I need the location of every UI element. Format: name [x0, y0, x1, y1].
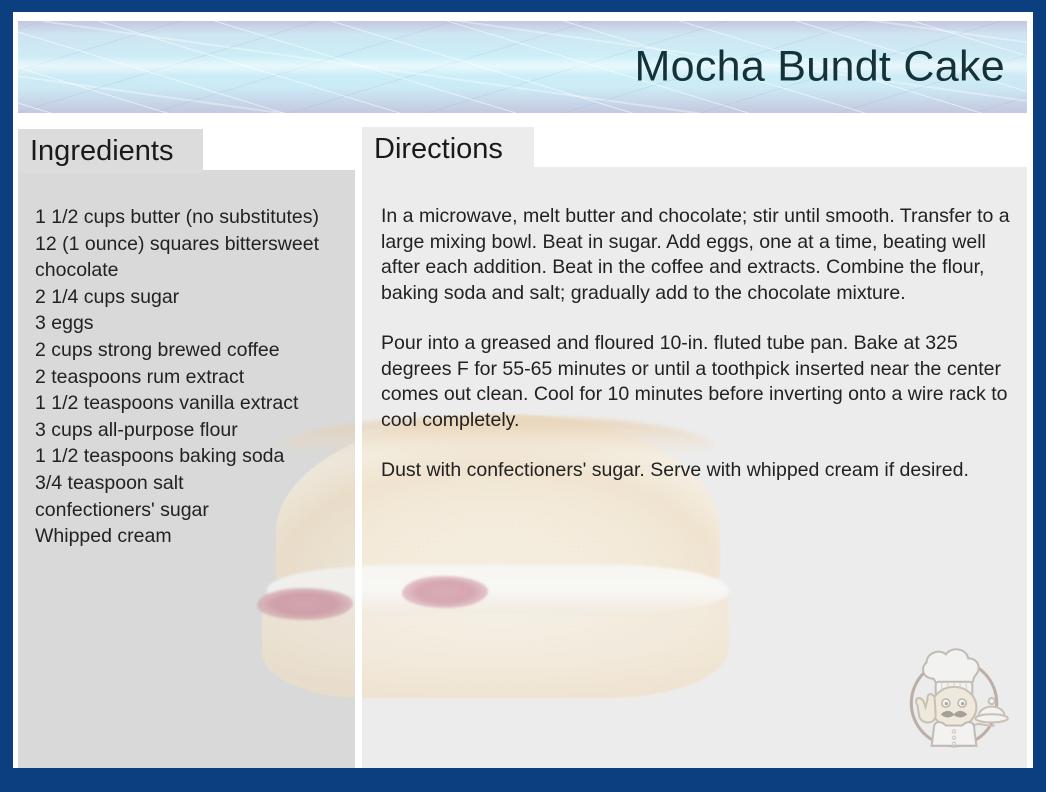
- list-item: confectioners' sugar: [35, 497, 360, 524]
- directions-paragraph: Dust with confectioners' sugar. Serve wi…: [381, 458, 1026, 484]
- list-item: 12 (1 ounce) squares bittersweet chocola…: [35, 231, 360, 284]
- page-title: Mocha Bundt Cake: [634, 46, 1005, 89]
- tab-directions[interactable]: Directions: [362, 127, 534, 172]
- recipe-card-page: Mocha Bundt Cake Ingredients Direct: [0, 0, 1046, 792]
- list-item: 3 eggs: [35, 310, 360, 337]
- directions-paragraph: Pour into a greased and floured 10-in. f…: [381, 331, 1026, 433]
- tab-ingredients[interactable]: Ingredients: [18, 129, 203, 173]
- list-item: 2 teaspoons rum extract: [35, 364, 360, 391]
- list-item: Whipped cream: [35, 523, 360, 550]
- panel-gutter-top-left: [203, 129, 362, 170]
- ingredients-list: 1 1/2 cups butter (no substitutes) 12 (1…: [35, 204, 360, 550]
- list-item: 2 1/4 cups sugar: [35, 284, 360, 311]
- list-item: 1 1/2 teaspoons vanilla extract: [35, 390, 360, 417]
- list-item: 3 cups all-purpose flour: [35, 417, 360, 444]
- list-item: 3/4 teaspoon salt: [35, 470, 360, 497]
- header-banner: Mocha Bundt Cake: [18, 21, 1027, 113]
- tab-directions-label: Directions: [374, 135, 503, 164]
- list-item: 1 1/2 cups butter (no substitutes): [35, 204, 360, 231]
- directions-paragraph: In a microwave, melt butter and chocolat…: [381, 204, 1026, 306]
- list-item: 2 cups strong brewed coffee: [35, 337, 360, 364]
- directions-text: In a microwave, melt butter and chocolat…: [381, 204, 1026, 484]
- list-item: 1 1/2 teaspoons baking soda: [35, 443, 360, 470]
- panel-gutter-top-right: [534, 127, 1027, 167]
- card-sheet: Mocha Bundt Cake Ingredients Direct: [13, 12, 1033, 768]
- chef-logo: [893, 636, 1015, 758]
- tab-ingredients-label: Ingredients: [30, 137, 174, 166]
